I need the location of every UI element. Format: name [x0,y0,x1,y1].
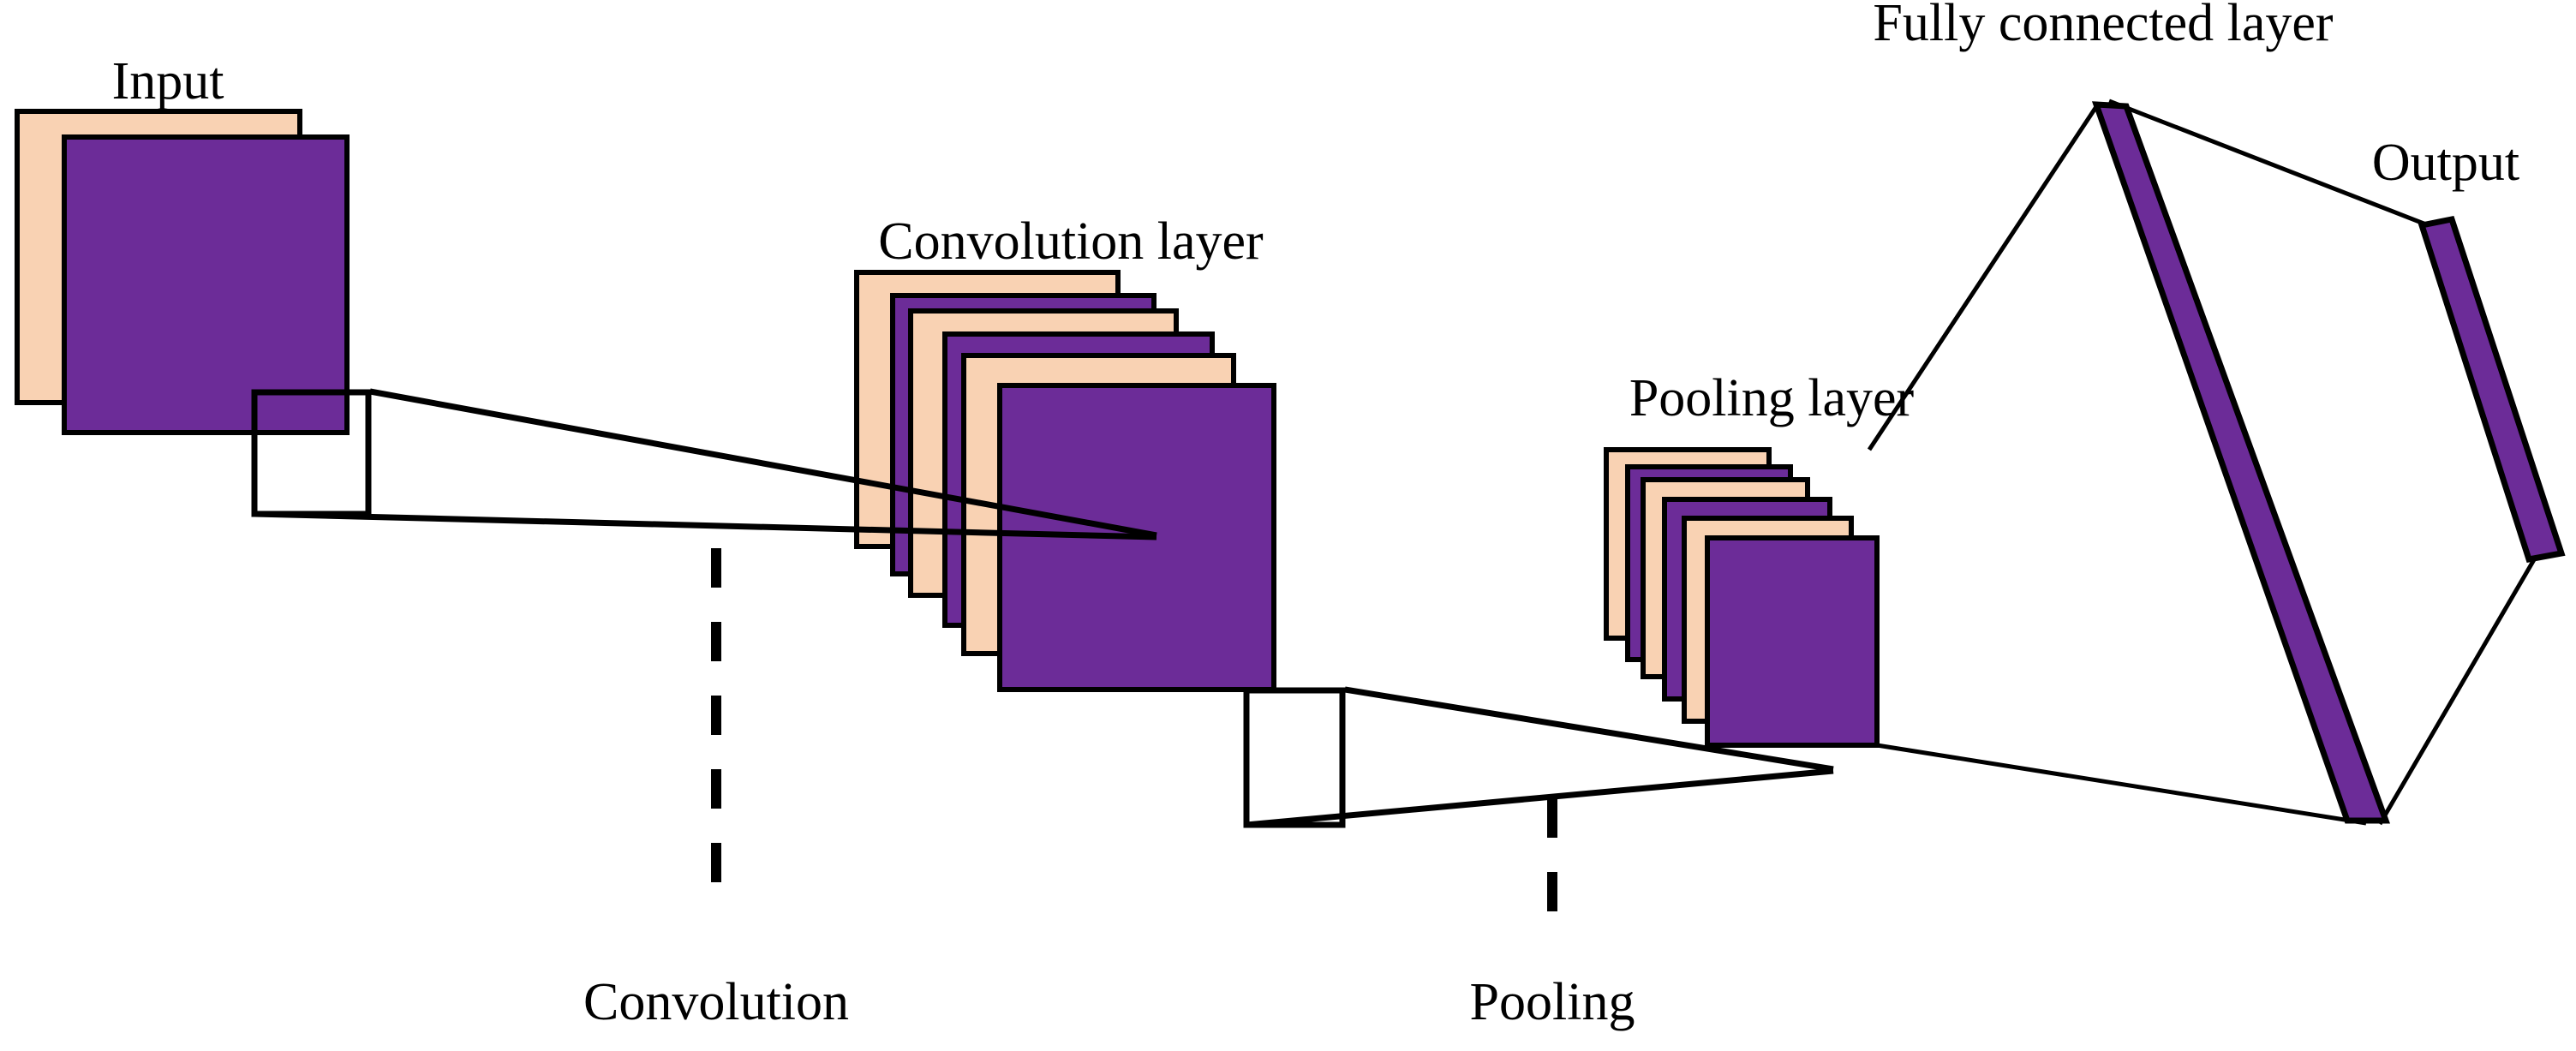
fc-wire-bottom-right [2380,557,2536,824]
label-input: Input [112,52,224,110]
label-pooling-operation: Pooling [1470,973,1635,1031]
fc-wire-bottom-left [1877,745,2366,823]
label-convolution-layer: Convolution layer [878,212,1264,271]
label-convolution-operation: Convolution [583,973,849,1031]
layer-pooling-stack [1606,450,1877,745]
cnn-diagram-canvas: Input Convolution layer Pooling layer Fu… [0,0,2576,1051]
label-fully-connected-layer: Fully connected layer [1873,0,2333,52]
cnn-architecture-diagram: Input Convolution layer Pooling layer Fu… [0,0,2576,1051]
layer-convolution-stack [857,272,1274,690]
layer-input [17,111,347,433]
layer-fully-connected [1869,101,2536,824]
label-pooling-layer: Pooling layer [1629,369,1915,427]
conv-kernel-square [1246,690,1342,825]
label-output: Output [2372,134,2519,192]
input-plane-front-purple [64,137,347,433]
layer-output [2422,219,2561,559]
fc-slab [2096,105,2386,821]
pool-plane-6-purple-front [1707,538,1877,745]
output-slab [2422,219,2561,559]
pool-connector-lower [1246,771,1833,825]
